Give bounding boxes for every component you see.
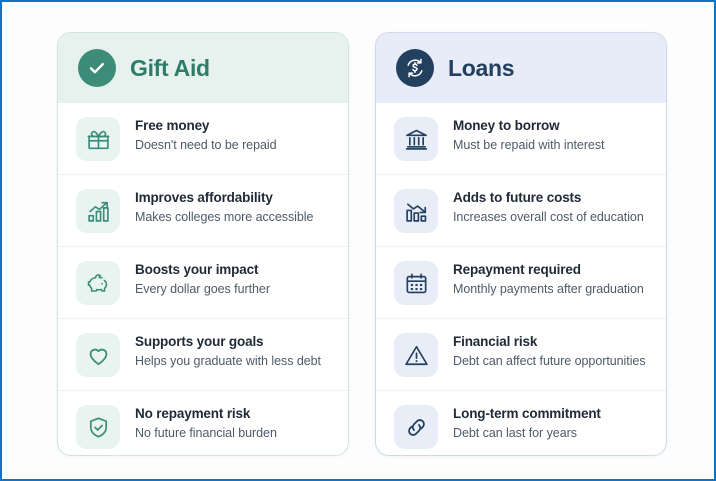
calendar-icon xyxy=(394,261,438,305)
loans-card-header: Loans xyxy=(376,33,666,103)
feature-description: Doesn't need to be repaid xyxy=(135,137,277,154)
feature-row-improves-affordability[interactable]: Improves affordability Makes colleges mo… xyxy=(58,174,348,246)
feature-title: Money to borrow xyxy=(453,118,604,135)
feature-row-money-to-borrow[interactable]: Money to borrow Must be repaid with inte… xyxy=(376,103,666,174)
gift-icon xyxy=(76,117,120,161)
loans-card: Loans xyxy=(375,32,667,456)
browser-viewport-frame: Gift Aid xyxy=(0,0,716,481)
loans-feature-list: Money to borrow Must be repaid with inte… xyxy=(376,103,666,456)
feature-description: Must be repaid with interest xyxy=(453,137,604,154)
gift-aid-card: Gift Aid xyxy=(57,32,349,456)
bar-chart-up-icon xyxy=(76,189,120,233)
check-circle-icon xyxy=(78,49,116,87)
feature-description: Makes colleges more accessible xyxy=(135,209,313,226)
heart-icon xyxy=(76,333,120,377)
feature-description: Helps you graduate with less debt xyxy=(135,353,321,370)
feature-title: Long-term commitment xyxy=(453,406,601,423)
feature-text: Boosts your impact Every dollar goes fur… xyxy=(135,260,270,297)
gift-aid-vs-loans-comparison: Gift Aid xyxy=(57,32,667,456)
feature-text: Financial risk Debt can affect future op… xyxy=(453,332,646,369)
feature-row-no-repayment-risk[interactable]: No repayment risk No future financial bu… xyxy=(58,390,348,456)
shield-check-icon xyxy=(76,405,120,449)
feature-text: Free money Doesn't need to be repaid xyxy=(135,116,277,153)
feature-description: Monthly payments after graduation xyxy=(453,281,644,298)
feature-row-adds-to-future-costs[interactable]: Adds to future costs Increases overall c… xyxy=(376,174,666,246)
feature-title: Boosts your impact xyxy=(135,262,270,279)
feature-text: Improves affordability Makes colleges mo… xyxy=(135,188,313,225)
feature-text: Adds to future costs Increases overall c… xyxy=(453,188,644,225)
feature-description: Increases overall cost of education xyxy=(453,209,644,226)
feature-text: No repayment risk No future financial bu… xyxy=(135,404,277,441)
feature-row-boosts-your-impact[interactable]: Boosts your impact Every dollar goes fur… xyxy=(58,246,348,318)
feature-description: Every dollar goes further xyxy=(135,281,270,298)
feature-title: Free money xyxy=(135,118,277,135)
gift-aid-card-header: Gift Aid xyxy=(58,33,348,103)
feature-row-long-term-commitment[interactable]: Long-term commitment Debt can last for y… xyxy=(376,390,666,456)
feature-text: Money to borrow Must be repaid with inte… xyxy=(453,116,604,153)
feature-text: Supports your goals Helps you graduate w… xyxy=(135,332,321,369)
chain-link-icon xyxy=(394,405,438,449)
warning-triangle-icon xyxy=(394,333,438,377)
feature-row-supports-your-goals[interactable]: Supports your goals Helps you graduate w… xyxy=(58,318,348,390)
feature-title: Improves affordability xyxy=(135,190,313,207)
bar-chart-down-icon xyxy=(394,189,438,233)
feature-title: Supports your goals xyxy=(135,334,321,351)
feature-title: Financial risk xyxy=(453,334,646,351)
feature-title: No repayment risk xyxy=(135,406,277,423)
feature-text: Repayment required Monthly payments afte… xyxy=(453,260,644,297)
feature-description: Debt can last for years xyxy=(453,425,601,442)
content-stage: Gift Aid xyxy=(2,4,714,479)
loans-title: Loans xyxy=(448,55,514,82)
feature-text: Long-term commitment Debt can last for y… xyxy=(453,404,601,441)
feature-row-free-money[interactable]: Free money Doesn't need to be repaid xyxy=(58,103,348,174)
feature-title: Adds to future costs xyxy=(453,190,644,207)
bank-icon xyxy=(394,117,438,161)
feature-row-repayment-required[interactable]: Repayment required Monthly payments afte… xyxy=(376,246,666,318)
feature-title: Repayment required xyxy=(453,262,644,279)
gift-aid-feature-list: Free money Doesn't need to be repaid xyxy=(58,103,348,456)
gift-aid-title: Gift Aid xyxy=(130,55,210,82)
feature-description: No future financial burden xyxy=(135,425,277,442)
piggy-bank-icon xyxy=(76,261,120,305)
dollar-refresh-icon xyxy=(396,49,434,87)
feature-description: Debt can affect future opportunities xyxy=(453,353,646,370)
feature-row-financial-risk[interactable]: Financial risk Debt can affect future op… xyxy=(376,318,666,390)
